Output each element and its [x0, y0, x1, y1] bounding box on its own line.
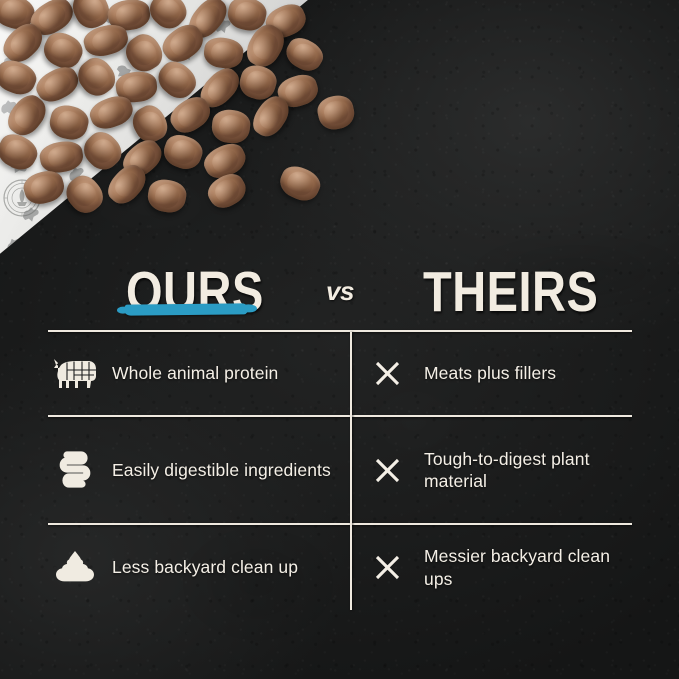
ours-cell-3: Less backyard clean up [52, 525, 344, 610]
theirs-text-3: Messier backyard clean ups [424, 545, 632, 590]
table-row: Whole animal protein Meats plus fillers [48, 332, 632, 415]
theirs-cell-2: Tough-to-digest plant material [364, 417, 632, 523]
comparison-table: Whole animal protein Meats plus fillers [48, 330, 632, 612]
ours-text-3: Less backyard clean up [112, 556, 298, 578]
ours-text-1: Whole animal protein [112, 362, 278, 384]
table-row: Less backyard clean up Messier backyard … [48, 525, 632, 610]
poop-icon [52, 548, 98, 588]
x-mark-icon [364, 554, 410, 581]
theirs-text-2: Tough-to-digest plant material [424, 448, 632, 493]
theirs-cell-3: Messier backyard clean ups [364, 525, 632, 610]
product-photo [0, 0, 340, 262]
x-mark-icon [364, 360, 410, 387]
vs-label: vs [326, 276, 354, 307]
product-comparison-graphic: OURS vs THEIRS [0, 0, 679, 679]
x-mark-icon [364, 457, 410, 484]
ours-cell-2: Easily digestible ingredients [52, 417, 344, 523]
kibble-pile [0, 0, 340, 262]
ours-cell-1: Whole animal protein [52, 332, 344, 415]
theirs-cell-1: Meats plus fillers [364, 332, 632, 415]
ours-text-2: Easily digestible ingredients [112, 459, 331, 481]
headline-row: OURS vs THEIRS [48, 258, 632, 320]
table-row: Easily digestible ingredients Tough-to-d… [48, 417, 632, 523]
theirs-text-1: Meats plus fillers [424, 362, 556, 384]
theirs-heading: THEIRS [423, 258, 598, 324]
ours-underline-accent [124, 303, 248, 315]
cow-butcher-cuts-icon [52, 356, 98, 392]
intestine-icon [52, 447, 98, 493]
